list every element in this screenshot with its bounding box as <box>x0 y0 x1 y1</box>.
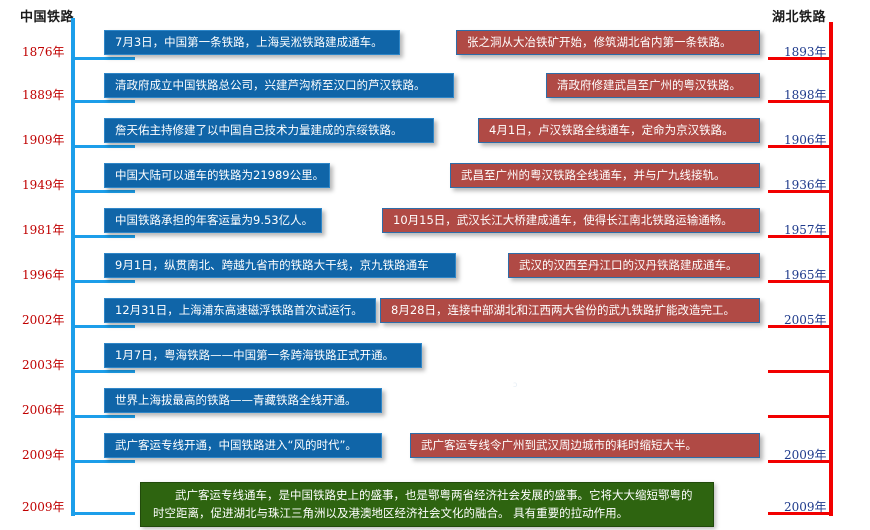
event-box[interactable]: 清政府修建武昌至广州的粤汉铁路。 <box>546 73 760 98</box>
year-label: 2009年 <box>784 498 827 515</box>
year-label: 1898年 <box>784 86 827 103</box>
year-label: 1957年 <box>784 221 827 238</box>
timeline-tick <box>71 235 135 238</box>
year-label: 2006年 <box>22 401 65 418</box>
event-box[interactable]: 武汉的汉西至丹江口的汉丹铁路建成通车。 <box>508 253 760 278</box>
event-box[interactable]: 詹天佑主持修建了以中国自己技术力量建成的京绥铁路。 <box>104 118 434 143</box>
year-label: 2009年 <box>22 446 65 463</box>
event-box[interactable]: 8月28日，连接中部湖北和江西两大省份的武九铁路扩能改造完工。 <box>380 298 760 323</box>
event-box[interactable]: 张之洞从大冶铁矿开始，修筑湖北省内第一条铁路。 <box>456 30 760 55</box>
year-label: 2002年 <box>22 311 65 328</box>
year-label: 1936年 <box>784 176 827 193</box>
year-label: 2003年 <box>22 356 65 373</box>
year-label: 1996年 <box>22 266 65 283</box>
event-box[interactable]: 12月31日，上海浦东高速磁浮铁路首次试运行。 <box>104 298 376 323</box>
timeline-tick <box>71 280 135 283</box>
event-box[interactable]: 武广客运专线开通，中国铁路进入“风的时代”。 <box>104 433 382 458</box>
year-label: 2005年 <box>784 311 827 328</box>
year-label: 1965年 <box>784 266 827 283</box>
event-box[interactable]: 中国铁路承担的年客运量为9.53亿人。 <box>104 208 322 233</box>
timeline-infographic: 中国铁路 湖北铁路 1876年7月3日，中国第一条铁路，上海吴淞铁路建成通车。1… <box>0 0 870 530</box>
year-label: 2009年 <box>784 446 827 463</box>
event-box[interactable]: 7月3日，中国第一条铁路，上海吴淞铁路建成通车。 <box>104 30 400 55</box>
event-box[interactable]: 9月1日，纵贯南北、跨越九省市的铁路大干线，京九铁路通车 <box>104 253 456 278</box>
year-label: 1889年 <box>22 86 65 103</box>
event-box[interactable]: 武广客运专线令广州到武汉周边城市的耗时缩短大半。 <box>410 433 760 458</box>
watermark-mark: ɔ <box>513 380 517 389</box>
timeline-tick <box>768 370 833 373</box>
timeline-tick <box>71 370 135 373</box>
summary-banner: 武广客运专线通车，是中国铁路史上的盛事，也是鄂粤两省经济社会发展的盛事。它将大大… <box>140 482 714 527</box>
event-box[interactable]: 武昌至广州的粤汉铁路全线通车，并与广九线接轨。 <box>450 163 760 188</box>
timeline-tick <box>768 415 833 418</box>
timeline-tick <box>71 57 135 60</box>
event-box[interactable]: 中国大陆可以通车的铁路为21989公里。 <box>104 163 330 188</box>
year-label: 1981年 <box>22 221 65 238</box>
year-label: 1949年 <box>22 176 65 193</box>
year-label: 1906年 <box>784 131 827 148</box>
event-box[interactable]: 世界上海拔最高的铁路——青藏铁路全线开通。 <box>104 388 382 413</box>
right-axis-title: 湖北铁路 <box>772 6 826 25</box>
event-box[interactable]: 1月7日，粤海铁路——中国第一条跨海铁路正式开通。 <box>104 343 422 368</box>
timeline-tick <box>71 325 135 328</box>
timeline-tick <box>71 460 135 463</box>
timeline-tick <box>71 512 135 515</box>
event-box[interactable]: 10月15日，武汉长江大桥建成通车，使得长江南北铁路运输通畅。 <box>382 208 760 233</box>
right-timeline-axis <box>829 22 833 516</box>
year-label: 1909年 <box>22 131 65 148</box>
year-label: 1876年 <box>22 43 65 60</box>
left-axis-title: 中国铁路 <box>20 6 74 25</box>
event-box[interactable]: 4月1日，卢汉铁路全线通车，定命为京汉铁路。 <box>478 118 760 143</box>
timeline-tick <box>71 415 135 418</box>
year-label: 1893年 <box>784 43 827 60</box>
left-timeline-axis <box>71 18 75 516</box>
timeline-tick <box>71 190 135 193</box>
year-label: 2009年 <box>22 498 65 515</box>
event-box[interactable]: 清政府成立中国铁路总公司，兴建芦沟桥至汉口的芦汉铁路。 <box>104 73 454 98</box>
timeline-tick <box>71 145 135 148</box>
timeline-tick <box>71 100 135 103</box>
